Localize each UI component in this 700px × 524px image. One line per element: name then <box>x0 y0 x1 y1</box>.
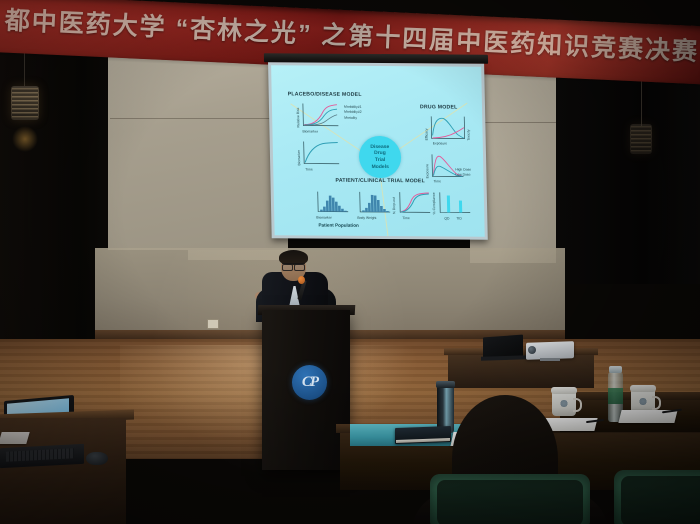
axis-label-efficacy: Efficacy <box>424 129 428 141</box>
axis-label-body-weight: Body Weight <box>357 216 376 220</box>
lantern-icon <box>630 124 652 154</box>
chart-efficacy-toxicity-vs-exposure <box>424 114 469 144</box>
computer-mouse <box>86 452 108 465</box>
axis-label-pct-dropout: % Drop-out <box>392 197 396 214</box>
tea-cup-emblem <box>560 399 568 408</box>
lantern-glow <box>12 126 38 152</box>
tick-label-tid: TID <box>456 217 462 221</box>
axis-label-pct-compliance: % Compliance <box>432 192 436 214</box>
chart-relative-risk-vs-biomarker <box>296 101 341 131</box>
axis-label-time: Time <box>434 179 442 183</box>
section-title-drug-model: DRUG MODEL <box>420 104 458 110</box>
axis-label-biomarker-y: Biomarker <box>297 150 301 165</box>
auditorium-chair <box>430 474 590 524</box>
lantern-icon <box>11 86 39 120</box>
section-title-placebo-disease: PLACEBO/DISEASE MODEL <box>288 91 362 98</box>
axis-label-exposure-y: Exposure <box>425 164 429 178</box>
axis-label-biomarker: Biomarker <box>302 129 318 133</box>
projector-lens-icon <box>528 346 536 354</box>
microphone-head <box>298 276 305 284</box>
chart-pct-compliance <box>432 190 475 218</box>
patient-population-caption: Patient Population <box>318 223 358 228</box>
center-hub: Disease Drug Trial Models <box>359 136 402 178</box>
hub-line-4: Models <box>372 164 389 171</box>
legend-drug-model: High Dose Low Dose <box>455 168 471 179</box>
legend-item: Morbidity#2 <box>344 110 362 115</box>
chair-seat-shadow <box>437 480 583 524</box>
podium-logo: CP <box>292 365 327 400</box>
legend-item: Low Dose <box>455 173 471 178</box>
chair-seat-shadow <box>621 476 700 524</box>
presentation-slide: Disease Drug Trial Models PLACEBO/DISEAS… <box>271 65 485 236</box>
chart-biomarker-vs-time <box>297 139 342 169</box>
screen-frame: Disease Drug Trial Models PLACEBO/DISEAS… <box>268 62 488 239</box>
tea-cup-emblem <box>639 397 647 406</box>
power-outlet-icon <box>207 319 219 329</box>
axis-label-biomarker-hist: Biomarker <box>316 216 332 220</box>
water-bottle-cap <box>609 366 622 373</box>
water-bottle-label <box>608 388 623 404</box>
lecture-hall-photo: 都中医药大学 “杏林之光” 之第十四届中医药知识竞赛决赛 Disease Dru… <box>0 0 700 524</box>
thermos-cap <box>436 381 455 388</box>
wall-seam <box>110 118 286 119</box>
chart-pct-dropout-vs-time <box>392 190 433 218</box>
projection-screen: Disease Drug Trial Models PLACEBO/DISEAS… <box>268 62 488 248</box>
glasses-icon <box>282 263 305 269</box>
legend-placebo-disease: Morbidity#1 Morbidity#2 Mortality <box>344 105 362 121</box>
axis-label-exposure: Exposure <box>433 141 447 145</box>
notebook <box>395 426 451 444</box>
axis-label-time: Time <box>402 216 410 220</box>
axis-label-toxicity: Toxicity <box>466 130 470 141</box>
projector-foot <box>540 358 560 361</box>
chart-body-weight-histogram <box>352 190 393 218</box>
axis-label-time: Time <box>305 167 313 171</box>
axis-label-relative-risk: Relative Risk <box>296 108 300 128</box>
legend-item: Mortality <box>344 115 362 120</box>
section-title-patient-clinical: PATIENT/CLINICAL TRIAL MODEL <box>335 178 425 185</box>
tick-label-qd: QD <box>444 216 449 220</box>
auditorium-chair <box>614 470 700 524</box>
chart-biomarker-histogram <box>310 190 351 218</box>
paper-sheet <box>0 432 30 444</box>
podium-logo-text: CP <box>302 374 317 391</box>
